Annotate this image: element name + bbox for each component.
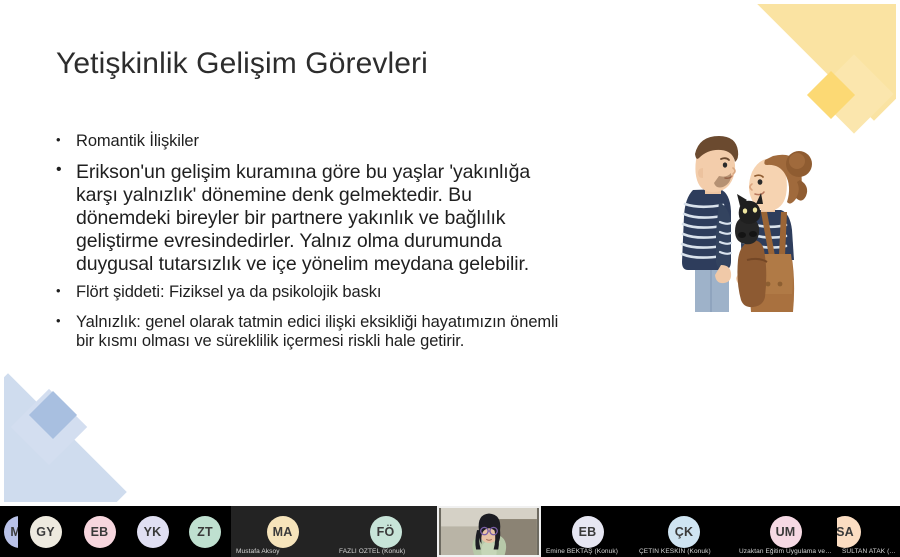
participant-name: SULTAN ATAK (Ko... bbox=[842, 548, 896, 555]
bullet-item: Erikson'un gelişim kuramına göre bu yaşl… bbox=[54, 161, 564, 275]
bullet-item: Flört şiddeti: Fiziksel ya da psikolojik… bbox=[54, 283, 564, 302]
participant-tile[interactable]: YK bbox=[126, 506, 179, 557]
avatar: YK bbox=[137, 516, 169, 548]
participant-tile[interactable]: FÖ FAZLI ÖZTEL (Konuk) bbox=[334, 506, 437, 557]
participant-tile[interactable]: ÇK ÇETİN KESKİN (Konuk) bbox=[634, 506, 734, 557]
avatar: SA bbox=[837, 516, 861, 548]
decor-diamond-bottom-left-large bbox=[4, 373, 127, 502]
meeting-screen: Yetişkinlik Gelişim Görevleri Romantik İ… bbox=[0, 0, 900, 557]
avatar: EB bbox=[84, 516, 116, 548]
avatar: FÖ bbox=[370, 516, 402, 548]
bullet-item: Romantik İlişkiler bbox=[54, 132, 564, 151]
participant-name: ÇETİN KESKİN (Konuk) bbox=[639, 548, 730, 555]
avatar: GY bbox=[30, 516, 62, 548]
decor-diamond-top-right-small bbox=[807, 71, 855, 119]
participant-tile[interactable]: MA Mustafa Aksoy bbox=[231, 506, 334, 557]
couple-holding-hands-with-cat-illustration bbox=[659, 132, 839, 317]
participant-tile[interactable]: MS bbox=[0, 506, 18, 557]
decor-diamond-top-right-large bbox=[755, 4, 896, 121]
participant-name: Uzaktan Eğitim Uygulama ve Araştır... bbox=[739, 548, 833, 555]
shared-screen-area: Yetişkinlik Gelişim Görevleri Romantik İ… bbox=[0, 0, 900, 506]
presentation-slide: Yetişkinlik Gelişim Görevleri Romantik İ… bbox=[4, 4, 896, 502]
participant-tile-active-speaker[interactable] bbox=[437, 506, 541, 557]
participant-tile[interactable]: EB Emine BEKTAŞ (Konuk) bbox=[541, 506, 634, 557]
participant-filmstrip[interactable]: MS GY EB YK ZT MA Mustafa Aksoy FÖ FAZLI… bbox=[0, 506, 900, 557]
avatar: EB bbox=[572, 516, 604, 548]
participant-name: FAZLI ÖZTEL (Konuk) bbox=[339, 548, 433, 555]
participant-tile[interactable]: ZT bbox=[179, 506, 231, 557]
participant-tile[interactable]: UM Uzaktan Eğitim Uygulama ve Araştır... bbox=[734, 506, 837, 557]
participant-name: Mustafa Aksoy bbox=[236, 548, 330, 555]
decor-diamond-bottom-left-small bbox=[29, 391, 77, 439]
participant-tile[interactable]: SA SULTAN ATAK (Ko... bbox=[837, 506, 900, 557]
participant-name: Emine BEKTAŞ (Konuk) bbox=[546, 548, 630, 555]
participant-video-feed bbox=[439, 508, 539, 555]
decor-diamond-top-right-medium bbox=[814, 54, 893, 133]
avatar: UM bbox=[770, 516, 802, 548]
participant-tile[interactable]: EB bbox=[73, 506, 126, 557]
slide-title: Yetişkinlik Gelişim Görevleri bbox=[56, 46, 428, 82]
avatar: ÇK bbox=[668, 516, 700, 548]
bullet-item: Yalnızlık: genel olarak tatmin edici ili… bbox=[54, 313, 564, 352]
avatar: MA bbox=[267, 516, 299, 548]
decor-diamond-bottom-left-medium bbox=[11, 389, 87, 465]
avatar: MS bbox=[4, 516, 18, 548]
avatar: ZT bbox=[189, 516, 221, 548]
participant-tile[interactable]: GY bbox=[18, 506, 73, 557]
slide-bullet-list: Romantik İlişkiler Erikson'un gelişim ku… bbox=[54, 132, 564, 361]
